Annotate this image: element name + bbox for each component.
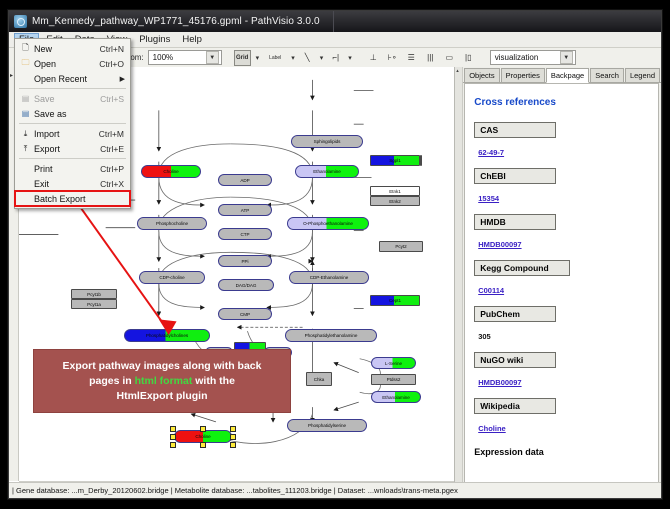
db-label-pubchem: PubChem <box>474 306 556 322</box>
status-bar-text: | Gene database: ...m_Derby_20120602.bri… <box>12 486 458 495</box>
menu-separator <box>19 123 126 124</box>
save-as-disk-icon: ▤ <box>17 107 34 120</box>
annotation-line-2a: pages in <box>89 375 135 387</box>
db-label-wikipedia: Wikipedia <box>474 398 556 414</box>
blank-icon <box>17 162 34 175</box>
node-cdp-choline[interactable]: CDP-choline <box>139 271 205 284</box>
chevron-down-icon: ▼ <box>206 51 219 64</box>
db-value-kegg-compound[interactable]: C00114 <box>478 286 504 295</box>
node-cmp[interactable]: CMP <box>218 308 272 320</box>
node-dag[interactable]: DAG/DAG <box>218 279 274 291</box>
file-menu-dropdown: 🗋 New Ctrl+N 🗀 Open Ctrl+O Open Recent ▶… <box>14 38 131 209</box>
menu-item-exit-label: Exit <box>34 179 100 189</box>
menu-item-import-label: Import <box>34 129 99 139</box>
menu-item-save-as-label: Save as <box>34 109 124 119</box>
menu-item-print[interactable]: Print Ctrl+P <box>15 161 130 176</box>
db-value-hmdb[interactable]: HMDB00097 <box>478 240 521 249</box>
label-tool-icon[interactable]: Label <box>264 51 286 65</box>
selection-handle[interactable] <box>230 442 236 448</box>
sidebar-collapse-handle[interactable] <box>455 67 463 498</box>
menu-item-new[interactable]: 🗋 New Ctrl+N <box>15 41 130 56</box>
blank-icon <box>17 177 34 190</box>
annotation-html-format: html format <box>135 375 193 387</box>
annotation-line-2b: with the <box>192 375 235 387</box>
distribute-horizontal-icon[interactable]: ||| <box>423 51 438 65</box>
menu-separator <box>19 88 126 89</box>
pathvisio-window: Mm_Kennedy_pathway_WP1771_45176.gpml - P… <box>8 10 662 499</box>
node-gene-sgpl1-expr <box>420 155 422 166</box>
menu-item-save[interactable]: ▤ Save Ctrl+S <box>15 91 130 106</box>
tab-objects[interactable]: Objects <box>464 68 499 82</box>
chevron-down-icon: ▼ <box>560 51 573 64</box>
annotation-line-2: pages in html format with the <box>89 374 235 389</box>
line-tool-icon[interactable]: ╲ <box>300 51 315 65</box>
annotation-line-3: HtmlExport plugin <box>117 389 208 404</box>
window-title: Mm_Kennedy_pathway_WP1771_45176.gpml - P… <box>32 16 320 27</box>
menu-item-export-accel: Ctrl+E <box>100 144 130 154</box>
cross-references-heading: Cross references <box>474 97 649 108</box>
line-dropdown-icon[interactable]: ▾ <box>319 54 325 62</box>
db-label-hmdb: HMDB <box>474 214 556 230</box>
node-o-phosphoethanolamine[interactable]: O-Phosphoethanolamine <box>287 217 369 230</box>
pathvisio-icon <box>14 15 27 28</box>
menu-item-open-recent[interactable]: Open Recent ▶ <box>15 71 130 86</box>
menu-item-exit[interactable]: Exit Ctrl+X <box>15 176 130 191</box>
db-label-nugo-wiki: NuGO wiki <box>474 352 556 368</box>
align-top-icon[interactable]: ⊥ <box>366 51 381 65</box>
menu-item-batch-export-label: Batch Export <box>34 194 130 204</box>
node-gene-pcyt2[interactable]: Pcyt2 <box>379 241 423 252</box>
selection-handle[interactable] <box>230 426 236 432</box>
menu-item-open-recent-label: Open Recent <box>34 74 130 84</box>
selection-handle[interactable] <box>170 426 176 432</box>
menu-item-save-as[interactable]: ▤ Save as <box>15 106 130 121</box>
db-label-kegg-compound: Kegg Compound <box>474 260 570 276</box>
db-value-nugo-wiki[interactable]: HMDB00097 <box>478 378 521 387</box>
common-height-icon[interactable]: |▯ <box>461 51 476 65</box>
node-l-serine[interactable]: L-Serine <box>371 357 416 369</box>
menu-item-open-accel: Ctrl+O <box>99 59 130 69</box>
node-gene-sgpl1[interactable]: Sgpl1 <box>370 155 420 166</box>
interaction-dropdown-icon[interactable]: ▾ <box>347 54 353 62</box>
menu-item-import-accel: Ctrl+M <box>99 129 130 139</box>
menu-item-export-label: Export <box>34 144 100 154</box>
menu-item-exit-accel: Ctrl+X <box>100 179 130 189</box>
status-bar: | Gene database: ...m_Derby_20120602.bri… <box>9 482 661 498</box>
align-left-icon[interactable]: ⊦∘ <box>385 51 400 65</box>
db-value-pubchem: 305 <box>478 332 491 341</box>
menu-item-save-accel: Ctrl+S <box>100 94 130 104</box>
selection-handle[interactable] <box>200 442 206 448</box>
selection-handle[interactable] <box>230 434 236 440</box>
node-gene-cept1[interactable]: Cept1 <box>370 295 420 306</box>
interaction-tool-icon[interactable]: ⌐| <box>328 51 343 65</box>
node-adp[interactable]: ADP <box>218 174 272 186</box>
menu-item-open-label: Open <box>34 59 99 69</box>
open-folder-icon: 🗀 <box>17 57 34 70</box>
blank-icon <box>17 72 34 85</box>
export-icon: ⤒ <box>17 142 34 155</box>
node-gene-pcyt1b[interactable]: Pcyt1b <box>71 289 117 299</box>
menu-plugins[interactable]: Plugins <box>134 33 175 47</box>
menu-item-batch-export[interactable]: Batch Export <box>15 191 130 206</box>
grid-dropdown-icon[interactable]: ▾ <box>255 54 261 62</box>
menu-help[interactable]: Help <box>177 33 207 47</box>
annotation-line-1: Export pathway images along with back <box>63 359 262 374</box>
menu-item-open[interactable]: 🗀 Open Ctrl+O <box>15 56 130 71</box>
sidebar-tabs: Objects Properties Backpage Search Legen… <box>455 67 661 83</box>
blank-icon <box>17 192 34 205</box>
node-phosphocholine[interactable]: Phosphocholine <box>137 217 207 230</box>
selection-handle[interactable] <box>170 442 176 448</box>
title-bar: Mm_Kennedy_pathway_WP1771_45176.gpml - P… <box>9 11 661 32</box>
save-disk-icon: ▤ <box>17 92 34 105</box>
grid-toggle-icon[interactable]: Grid <box>234 50 251 66</box>
db-value-cas[interactable]: 62-49-7 <box>478 148 504 157</box>
zoom-value: 100% <box>153 53 173 62</box>
menu-item-import[interactable]: ⤓ Import Ctrl+M <box>15 126 130 141</box>
db-label-cas: CAS <box>474 122 556 138</box>
db-label-chebi: ChEBI <box>474 168 556 184</box>
menu-item-new-label: New <box>34 44 100 54</box>
node-phosphatidylserine[interactable]: Phosphatidylserine <box>287 419 367 432</box>
menu-item-print-label: Print <box>34 164 100 174</box>
db-value-chebi[interactable]: 15354 <box>478 194 499 203</box>
tab-search[interactable]: Search <box>590 68 624 82</box>
node-ethanolamine[interactable]: Ethanolamine <box>295 165 359 178</box>
import-icon: ⤓ <box>17 127 34 140</box>
node-gene-pcyt1a[interactable]: Pcyt1a <box>71 299 117 309</box>
visualization-value: visualization <box>495 53 539 62</box>
node-atp[interactable]: ATP <box>218 204 272 216</box>
stack-vertical-icon[interactable]: ☰ <box>404 51 419 65</box>
chevron-right-icon: ▶ <box>120 75 125 83</box>
backpage-panel: Cross references CAS 62-49-7 ChEBI 15354… <box>464 83 659 496</box>
node-choline[interactable]: Choline <box>141 165 201 178</box>
selection-handle[interactable] <box>200 426 206 432</box>
sidebar: Objects Properties Backpage Search Legen… <box>455 67 661 498</box>
tab-properties[interactable]: Properties <box>501 68 545 82</box>
node-phosphatidylethanolamine[interactable]: Phosphatidylethanolamine <box>285 329 377 342</box>
expression-data-heading: Expression data <box>474 447 649 457</box>
menu-item-export[interactable]: ⤒ Export Ctrl+E <box>15 141 130 156</box>
node-gene-etnk2[interactable]: Etnk2 <box>370 196 420 206</box>
visualization-combo[interactable]: visualization ▼ <box>490 50 576 65</box>
node-gene-ptdss2[interactable]: Ptdss2 <box>371 374 416 385</box>
tab-backpage[interactable]: Backpage <box>546 68 589 83</box>
menu-item-new-accel: Ctrl+N <box>100 44 130 54</box>
tab-legend[interactable]: Legend <box>625 68 660 82</box>
node-ctp[interactable]: CTP <box>218 228 272 240</box>
node-phosphatidylcholines[interactable]: Phosphatidylcholines <box>124 329 210 342</box>
zoom-combo[interactable]: 100% ▼ <box>148 50 222 65</box>
node-cdp-ethanolamine[interactable]: CDP-Ethanolamine <box>289 271 369 284</box>
node-gene-chka[interactable]: Chka <box>306 372 332 386</box>
annotation-callout: Export pathway images along with back pa… <box>33 349 291 413</box>
db-value-wikipedia[interactable]: Choline <box>478 424 506 433</box>
menu-item-save-label: Save <box>34 94 100 104</box>
node-ppi[interactable]: PPi <box>218 255 272 267</box>
node-gene-etnk1[interactable]: Etnk1 <box>370 186 420 196</box>
label-dropdown-icon[interactable]: ▾ <box>290 54 296 62</box>
node-sphingolipids[interactable]: Sphingolipids <box>291 135 363 148</box>
menu-item-print-accel: Ctrl+P <box>100 164 130 174</box>
menu-separator <box>19 158 126 159</box>
new-document-icon: 🗋 <box>17 42 34 55</box>
selection-handle[interactable] <box>170 434 176 440</box>
node-ethanolamine-2[interactable]: Ethanolamine <box>371 391 421 403</box>
common-width-icon[interactable]: ▭ <box>442 51 457 65</box>
